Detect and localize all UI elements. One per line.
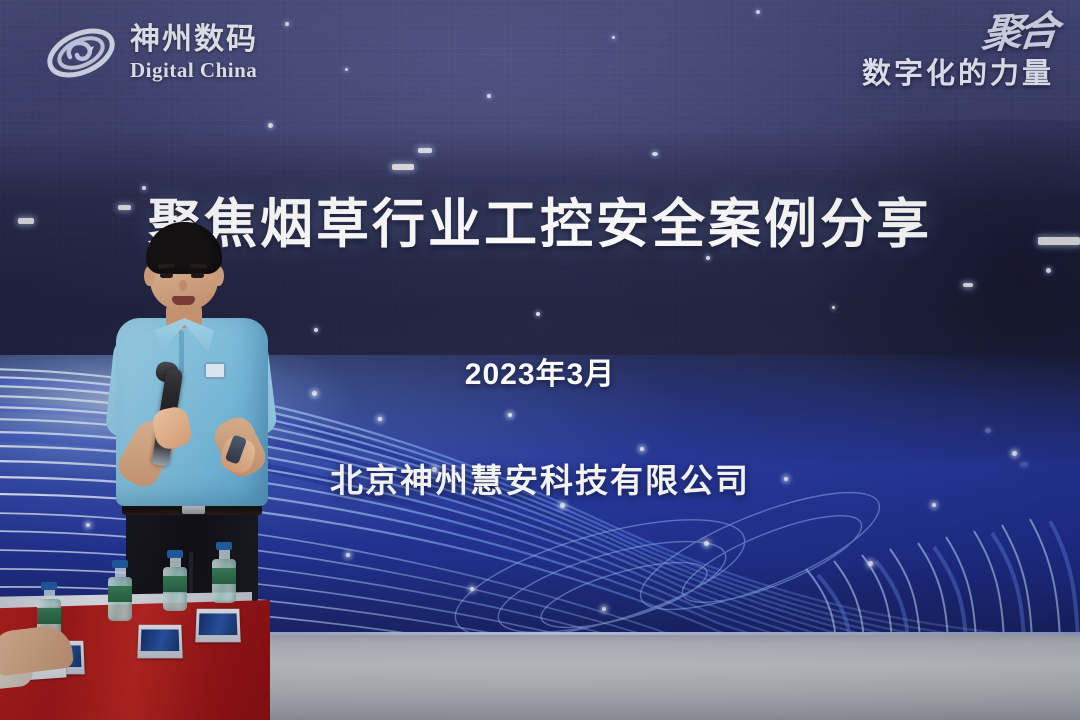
bottle-neck (115, 568, 126, 577)
light-speck (756, 10, 760, 14)
galaxy-swirl-logo-icon (44, 22, 118, 84)
slogan-subtitle: 数字化的力量 (862, 60, 1054, 89)
light-speck (652, 152, 658, 156)
light-speck (612, 36, 615, 39)
brand-logo: 神州数码 Digital China (44, 22, 258, 84)
light-speck (963, 283, 973, 287)
bottle-cap (216, 542, 232, 550)
light-speck (285, 22, 289, 26)
brand-name-en: Digital China (130, 60, 258, 81)
bottle-neck (219, 550, 230, 559)
light-speck (392, 164, 414, 170)
water-bottle (163, 550, 187, 611)
bottle-body (212, 559, 236, 603)
light-speck (418, 148, 432, 153)
light-speck (487, 94, 491, 98)
brand-name-cn: 神州数码 (130, 25, 258, 55)
bottle-cap (167, 550, 183, 558)
light-speck (832, 306, 835, 309)
light-speck (268, 123, 273, 128)
name-card (137, 625, 182, 659)
bottle-cap (112, 560, 128, 568)
conference-stage-photo: 神州数码 Digital China 聚合 数字化的力量 聚焦烟草行业工控安全案… (0, 0, 1080, 720)
event-slogan: 聚合 数字化的力量 (862, 16, 1054, 89)
presenter-eye-right (191, 273, 204, 278)
light-speck (314, 328, 318, 332)
water-bottle (108, 560, 132, 621)
name-card (195, 609, 240, 643)
bottle-label (37, 608, 61, 624)
brand-text: 神州数码 Digital China (130, 25, 258, 81)
bottle-body (163, 567, 187, 611)
bottle-neck (44, 590, 55, 599)
name-card-plate (199, 613, 238, 635)
water-bottle (212, 542, 236, 603)
presenter-eye-left (160, 273, 173, 278)
presenter-shirt-placket (179, 330, 184, 374)
presenter-nose (179, 280, 187, 291)
light-speck (345, 68, 348, 71)
light-speck (1046, 268, 1051, 273)
bottle-neck (170, 558, 181, 567)
bottle-cap (41, 582, 57, 590)
bottle-label (163, 576, 187, 592)
presenter-mouth (172, 296, 195, 305)
name-card-plate (141, 629, 180, 651)
bottle-label (108, 586, 132, 602)
presenter-shirt-logo (204, 362, 226, 379)
slogan-calligraphy: 聚合 (859, 11, 1057, 61)
light-speck (536, 312, 540, 316)
bottle-label (212, 568, 236, 584)
bottle-body (108, 577, 132, 621)
